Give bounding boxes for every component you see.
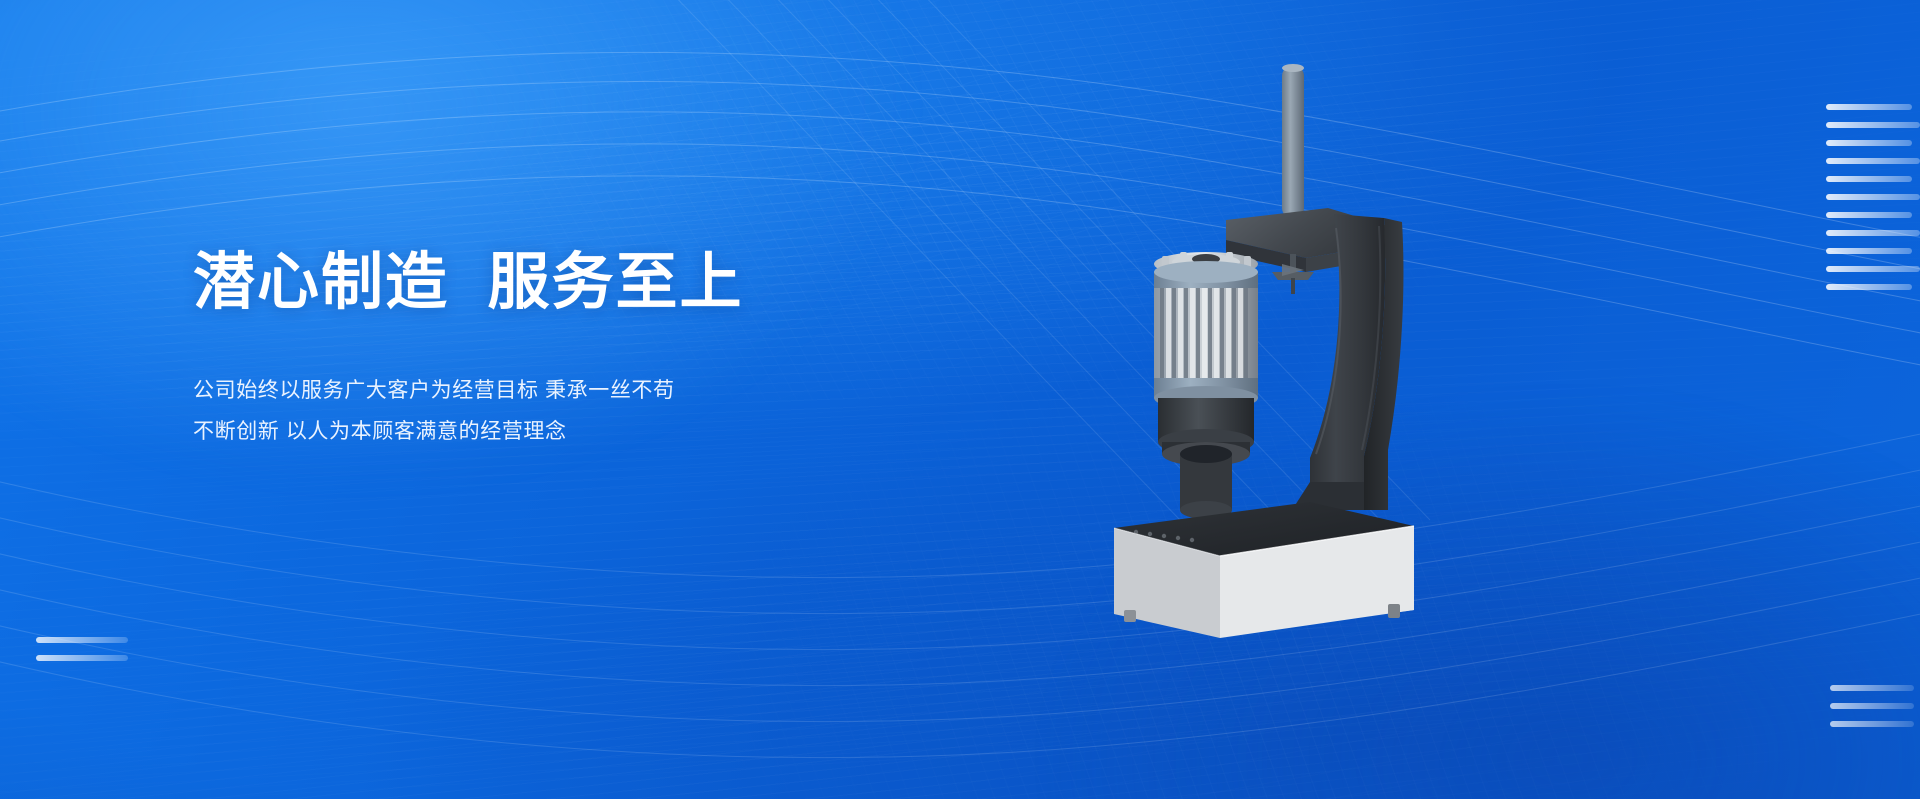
decor-bar xyxy=(1826,284,1912,290)
hero-subtitle-line-2: 不断创新 以人为本顾客满意的经营理念 xyxy=(193,412,953,453)
decor-bar xyxy=(1826,122,1920,128)
decor-bar xyxy=(1826,248,1912,254)
hero-copy: 潜心制造 服务至上 公司始终以服务广大客户为经营目标 秉承一丝不苟 不断创新 以… xyxy=(193,248,953,453)
decor-bars-left xyxy=(36,637,128,673)
decor-bar xyxy=(36,637,128,643)
decor-bar xyxy=(1826,140,1912,146)
decor-bar xyxy=(1826,266,1920,272)
decor-bar xyxy=(36,655,128,661)
hero-subtitle-line-1: 公司始终以服务广大客户为经营目标 秉承一丝不苟 xyxy=(193,371,953,412)
vertical-guide-rod-icon xyxy=(1282,64,1304,218)
decor-bar xyxy=(1826,176,1912,182)
decor-bar xyxy=(1826,158,1920,164)
hero-banner: 潜心制造 服务至上 公司始终以服务广大客户为经营目标 秉承一丝不苟 不断创新 以… xyxy=(0,0,1920,799)
decor-bars-right xyxy=(1826,104,1920,302)
decor-bar xyxy=(1826,194,1920,200)
product-machine-illustration xyxy=(1096,58,1556,648)
finned-motor-cylinder-icon xyxy=(1154,252,1258,410)
motor-base-flange-icon xyxy=(1158,398,1254,519)
hero-headline: 潜心制造 服务至上 xyxy=(193,248,953,317)
decor-bar xyxy=(1826,230,1920,236)
decor-bar xyxy=(1826,212,1912,218)
cabinet-base-icon xyxy=(1114,502,1414,638)
hero-subtitle: 公司始终以服务广大客户为经营目标 秉承一丝不苟 不断创新 以人为本顾客满意的经营… xyxy=(193,371,953,453)
decor-bar xyxy=(1830,685,1914,691)
decor-bar xyxy=(1826,104,1912,110)
decor-bar xyxy=(1830,721,1914,727)
decor-bars-bottom-right xyxy=(1830,685,1914,739)
decor-bar xyxy=(1830,703,1914,709)
